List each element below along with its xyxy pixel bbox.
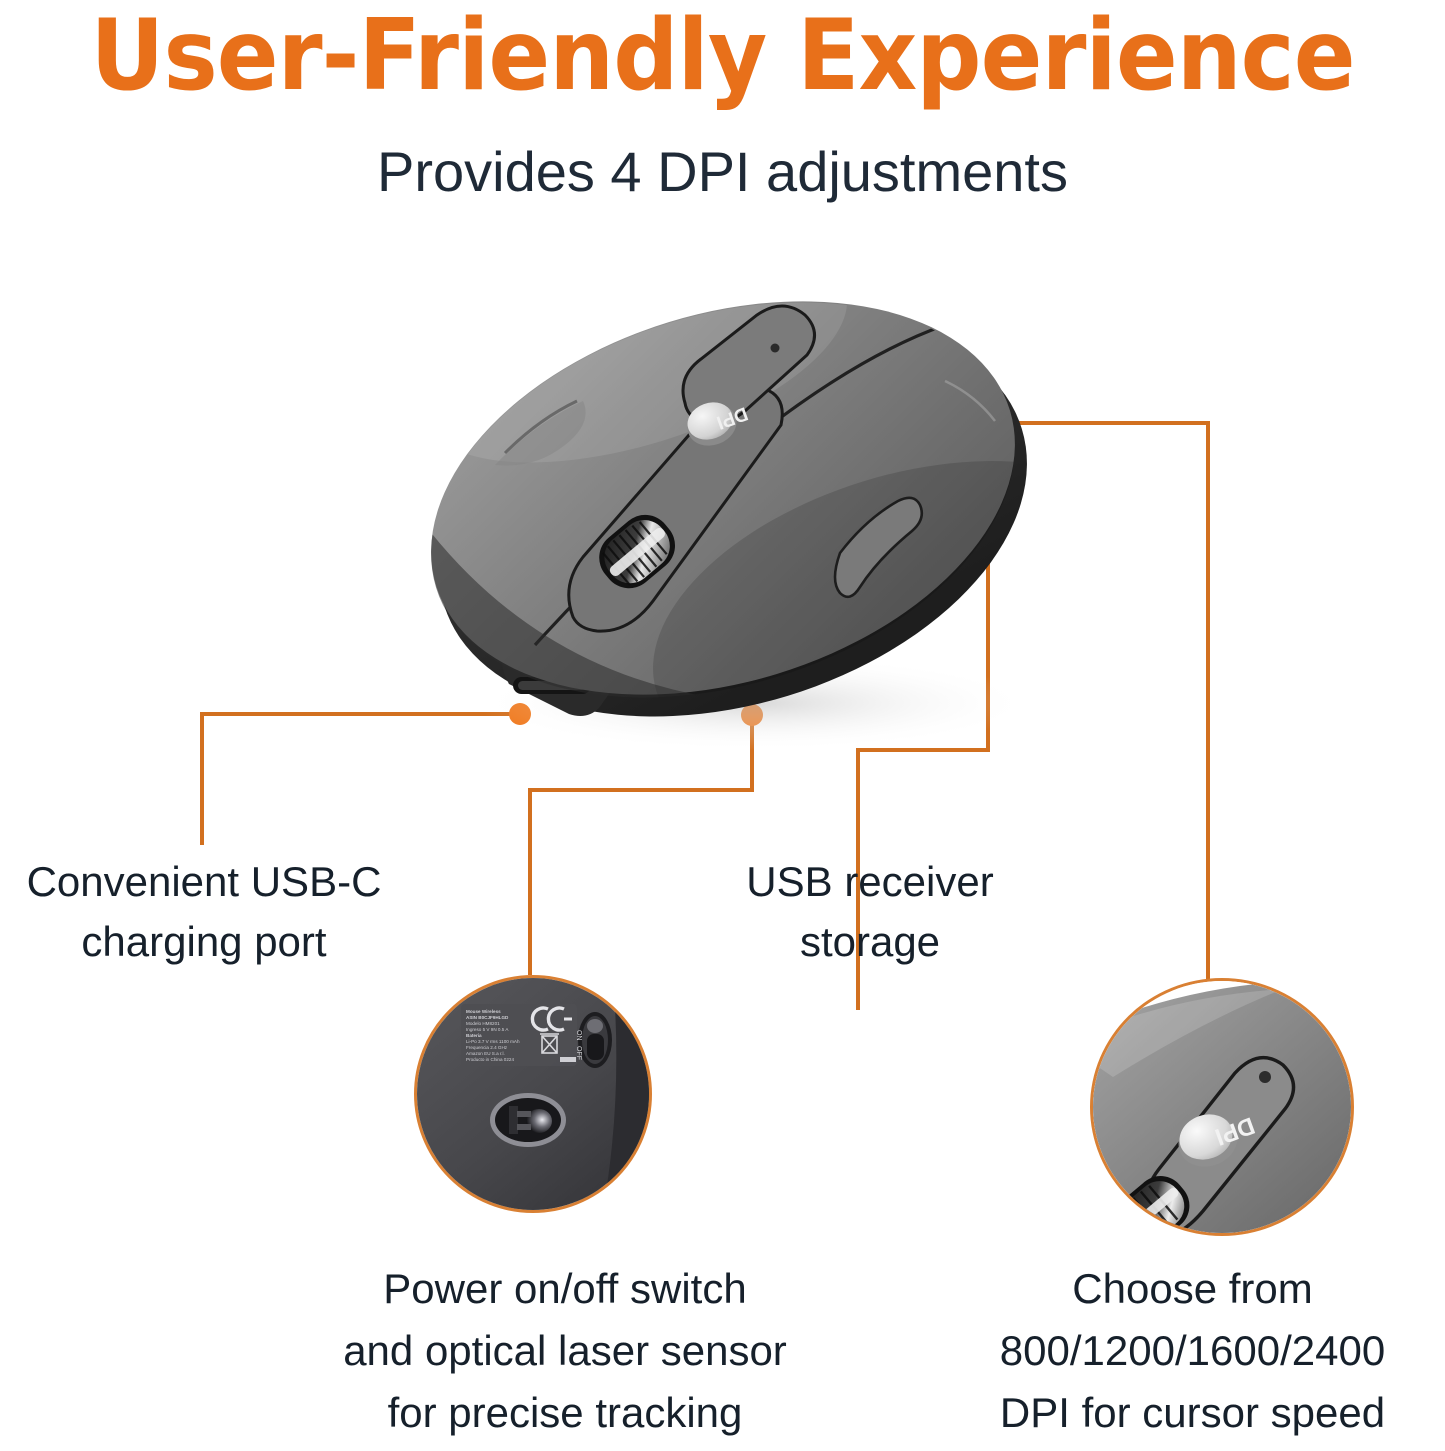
svg-text:Frequencia 2.4 GHz: Frequencia 2.4 GHz xyxy=(466,1045,508,1050)
svg-text:Producto in China 0224: Producto in China 0224 xyxy=(466,1057,514,1062)
callout-usb-c-charging-port: Convenient USB-C charging port xyxy=(0,852,414,972)
svg-text:Li-Po 3.7 V rms 1100 mAh: Li-Po 3.7 V rms 1100 mAh xyxy=(466,1039,520,1044)
optical-sensor xyxy=(490,1093,566,1147)
svg-text:Bateria: Bateria xyxy=(466,1033,482,1038)
svg-text:OFF: OFF xyxy=(575,1046,582,1060)
svg-text:Ingreso 5 V 9N 0.5 A: Ingreso 5 V 9N 0.5 A xyxy=(466,1027,509,1032)
detail-view-mouse-underside: Mouse Wireless ASIN B0CJF9HLGD Modelo HM… xyxy=(414,975,652,1213)
svg-text:Mouse Wireless: Mouse Wireless xyxy=(466,1009,501,1014)
detail-view-dpi-button: DPI xyxy=(1090,978,1354,1236)
page-title: User-Friendly Experience xyxy=(51,0,1395,112)
svg-text:ASIN B0CJF9HLGD: ASIN B0CJF9HLGD xyxy=(466,1015,509,1020)
callout-usb-receiver-storage: USB receiver storage xyxy=(700,852,1040,972)
svg-text:Modelo HM8201: Modelo HM8201 xyxy=(466,1021,500,1026)
product-image-mouse: DPI xyxy=(385,285,1065,755)
page-subtitle: Provides 4 DPI adjustments xyxy=(0,140,1445,204)
infographic-root: User-Friendly Experience Provides 4 DPI … xyxy=(0,0,1445,1451)
power-switch xyxy=(578,1012,612,1068)
caption-power-switch-sensor: Power on/off switch and optical laser se… xyxy=(255,1258,875,1444)
svg-text:ON: ON xyxy=(575,1030,582,1041)
svg-text:Amazon EU S.a r.l.: Amazon EU S.a r.l. xyxy=(466,1051,505,1056)
caption-dpi-levels: Choose from 800/1200/1600/2400 DPI for c… xyxy=(940,1258,1445,1444)
